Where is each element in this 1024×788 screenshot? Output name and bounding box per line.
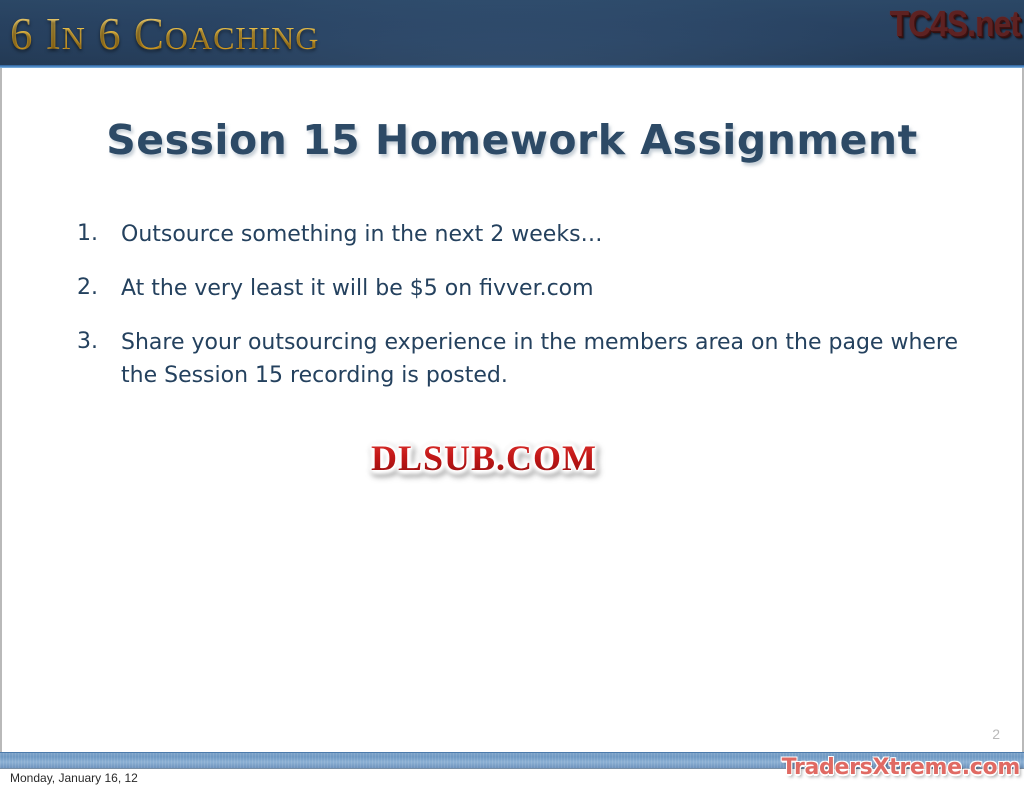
list-item-number: 3. — [77, 326, 121, 358]
list-item-number: 1. — [77, 218, 121, 250]
list-item: 1. Outsource something in the next 2 wee… — [77, 218, 977, 251]
list-item-text: At the very least it will be $5 on fivve… — [121, 272, 976, 305]
list-item-text: Outsource something in the next 2 weeks… — [121, 218, 976, 251]
homework-list: 1. Outsource something in the next 2 wee… — [77, 218, 977, 413]
footer-date: Monday, January 16, 12 — [10, 771, 138, 785]
slide-title: Session 15 Homework Assignment — [2, 116, 1022, 164]
list-item: 3. Share your outsourcing experience in … — [77, 326, 977, 392]
brand-logo-tc4s: TC4S.net — [890, 2, 1020, 46]
brand-title-left: 6 In 6 Coaching — [10, 8, 319, 60]
page-number: 2 — [992, 726, 1000, 742]
presentation-slide: 6 In 6 Coaching TC4S.net Session 15 Home… — [0, 0, 1024, 788]
list-item-number: 2. — [77, 272, 121, 304]
slide-content-area: Session 15 Homework Assignment 1. Outsou… — [0, 68, 1024, 752]
header-banner: 6 In 6 Coaching TC4S.net — [0, 0, 1024, 68]
dlsub-watermark: DLSUB.COM — [365, 436, 603, 480]
footer-logo-tradersxtreme: TradersXtreme.com — [782, 753, 1020, 783]
list-item: 2. At the very least it will be $5 on fi… — [77, 272, 977, 305]
list-item-text: Share your outsourcing experience in the… — [121, 326, 976, 392]
